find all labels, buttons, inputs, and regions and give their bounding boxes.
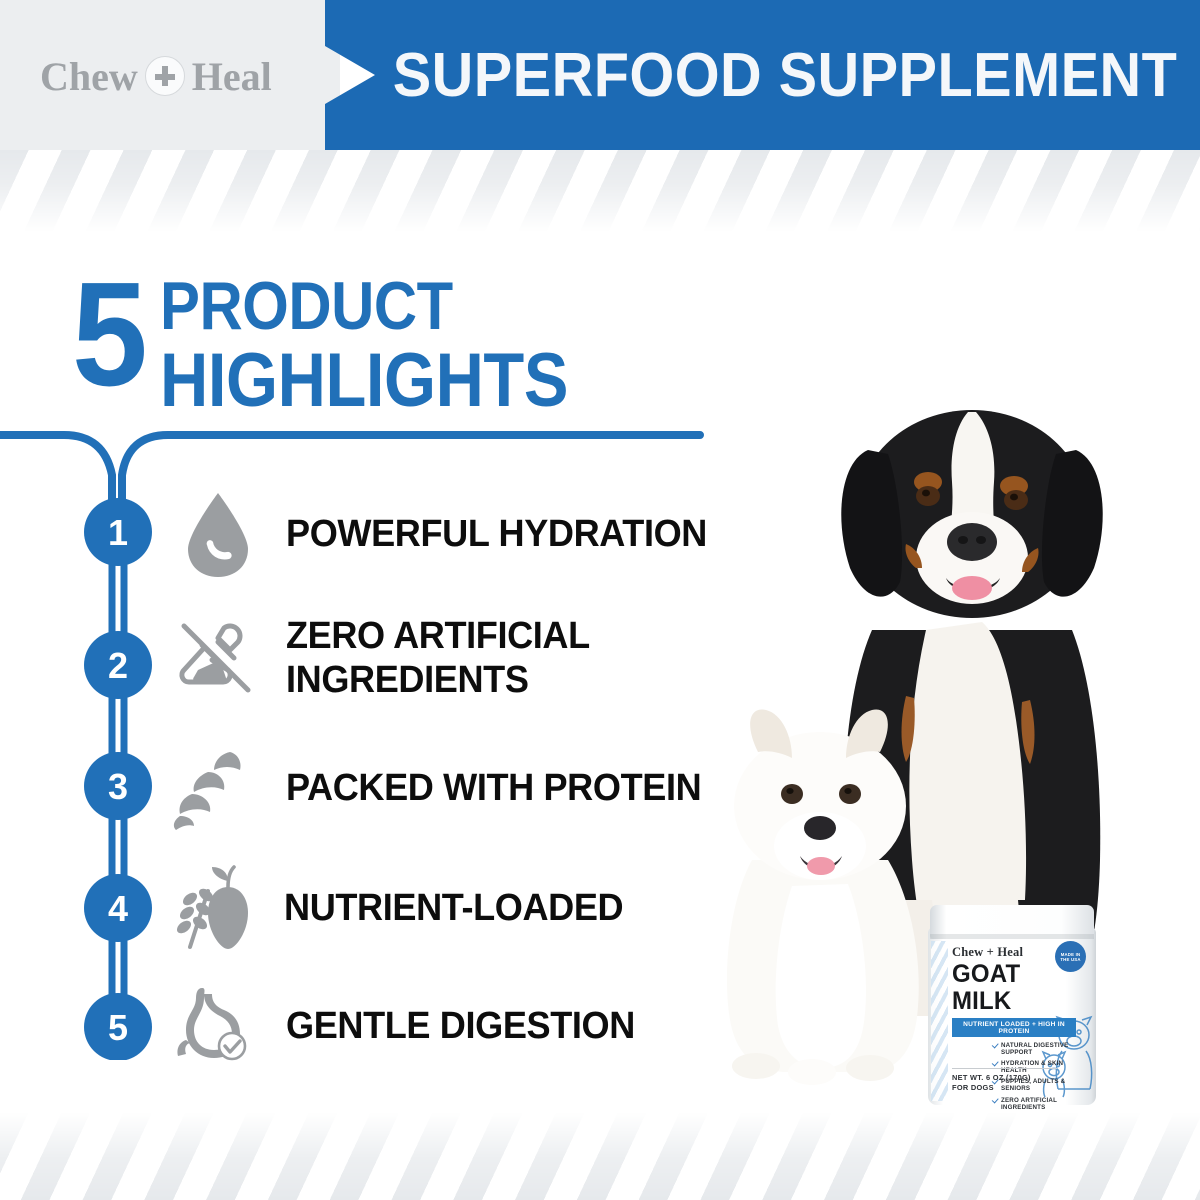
jar-net-weight-value: NET WT. 6 OZ (170G) (952, 1073, 1031, 1082)
jar-benefit-item: ZERO ARTIFICIAL INGREDIENTS (992, 1097, 1076, 1111)
jar-net-weight: NET WT. 6 OZ (170G) FOR DOGS (952, 1068, 1057, 1092)
made-in-usa-badge: MADE IN THE USA (1055, 941, 1086, 972)
protein-helix-icon (168, 742, 260, 834)
badge-line-2: THE USA (1060, 957, 1080, 962)
highlight-label-1: POWERFUL HYDRATION (286, 512, 707, 556)
highlight-item-5[interactable]: GENTLE DIGESTION (168, 980, 653, 1072)
highlight-label-2: ZERO ARTIFICIAL INGREDIENTS (286, 614, 590, 702)
highlight-item-1[interactable]: POWERFUL HYDRATION (172, 488, 729, 580)
plus-circle-icon (145, 56, 185, 96)
jar-lid (930, 905, 1094, 939)
highlight-item-4[interactable]: NUTRIENT-LOADED (168, 862, 641, 954)
jar-for-dogs-text: FOR DOGS (952, 1083, 994, 1092)
diagonal-stripes-top (0, 150, 1200, 232)
jar-benefit-item: NATURAL DIGESTIVE SUPPORT (992, 1042, 1076, 1056)
brand-logo: Chew Heal (40, 50, 300, 102)
logo-word-chew: Chew (40, 53, 138, 100)
highlight-label-5: GENTLE DIGESTION (286, 1004, 635, 1048)
infographic-canvas: Chew Heal SUPERFOOD SUPPLEMENT 5 PRODUCT… (0, 0, 1200, 1200)
product-jar[interactable]: Chew + Heal GOAT MILK NUTRIENT LOADED + … (928, 905, 1096, 1105)
node-number-4: 4 (108, 888, 128, 929)
page-title-line1: PRODUCT (160, 274, 568, 338)
stomach-check-icon (168, 980, 260, 1072)
page-title: 5 PRODUCT HIGHLIGHTS (72, 268, 624, 418)
highlight-count-number: 5 (72, 268, 148, 402)
banner-title: SUPERFOOD SUPPLEMENT (418, 0, 1153, 150)
node-number-1: 1 (108, 512, 128, 553)
node-number-2: 2 (108, 645, 128, 686)
timeline-left-curve (0, 435, 112, 508)
jar-product-name: GOAT MILK (952, 961, 1071, 1015)
jar-label-content: Chew + Heal GOAT MILK NUTRIENT LOADED + … (952, 945, 1076, 1127)
jar-label-stripes (931, 941, 948, 1101)
highlight-label-4: NUTRIENT-LOADED (284, 886, 623, 930)
water-drop-icon (172, 488, 264, 580)
no-chemicals-flask-icon (168, 612, 260, 704)
jar-tagline: NUTRIENT LOADED + HIGH IN PROTEIN (952, 1018, 1076, 1037)
highlight-label-3: PACKED WITH PROTEIN (286, 766, 701, 810)
node-number-3: 3 (108, 766, 128, 807)
logo-word-heal: Heal (192, 53, 272, 100)
wheat-apple-icon (168, 862, 260, 954)
header-bar: Chew Heal SUPERFOOD SUPPLEMENT (0, 0, 1200, 150)
page-title-line2: HIGHLIGHTS (160, 344, 568, 418)
node-number-5: 5 (108, 1007, 128, 1048)
highlight-item-3[interactable]: PACKED WITH PROTEIN (168, 742, 723, 834)
highlight-item-2[interactable]: ZERO ARTIFICIAL INGREDIENTS (168, 612, 606, 704)
